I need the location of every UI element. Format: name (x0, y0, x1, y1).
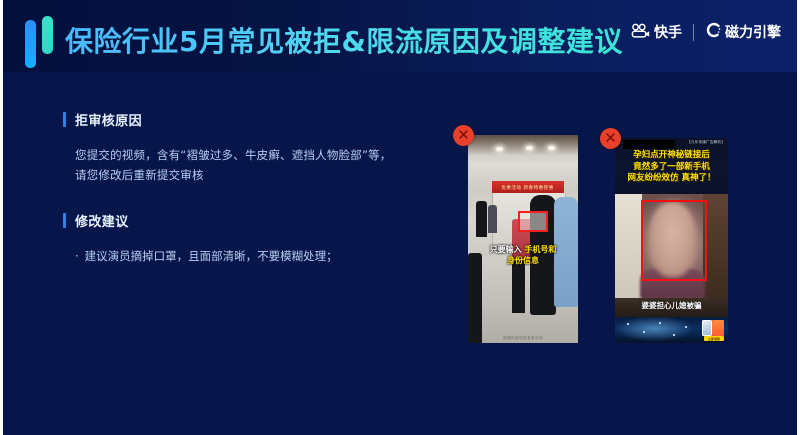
section-modification-advice: 修改建议 · 建议演员摘掉口罩，且面部清晰，不要模糊处理； (63, 211, 403, 266)
video-footer-note: 视频内容仅供参考示例 (468, 336, 578, 341)
section-heading-reject-reason: 拒审核原因 (63, 110, 403, 129)
sparkle-icon (673, 334, 675, 336)
brand-logos: 快手 磁力引擎 (631, 22, 781, 42)
list-item: · 建议演员摘掉口罩，且面部清晰，不要模糊处理； (63, 246, 403, 266)
headline-line-1: 孕妇点开神秘链接后 (615, 150, 728, 162)
sparkle-icon (627, 323, 629, 325)
bullet-text: 建议演员摘掉口罩，且面部清晰，不要模糊处理； (85, 246, 403, 266)
bullet-marker: · (75, 246, 79, 266)
store-banner: 优惠活动 新春特惠钜惠 (492, 181, 564, 193)
video-thumbnail-mall[interactable]: 优惠活动 新春特惠钜惠 只要 (468, 135, 578, 343)
red-highlight-box (641, 200, 707, 281)
section-title-text: 修改建议 (75, 215, 129, 230)
sparkle-icon (685, 326, 687, 328)
caption-highlight: 身份信息 (507, 256, 539, 265)
reject-badge-icon: ✕ (453, 125, 474, 146)
slide-header: 保险行业5月常见被拒&限流原因及调整建议 快手 (3, 0, 800, 72)
brand-label-kuaishou: 快手 (654, 22, 682, 42)
headline-line-2: 竟然多了一部新手机 (615, 162, 728, 174)
store-banner-text: 优惠活动 新春特惠钜惠 (502, 184, 555, 190)
corner-tag: 【凡乐传媒广告解析】 (687, 140, 725, 145)
red-highlight-box (518, 211, 548, 232)
ceiling-light (548, 146, 555, 150)
caption-line-2: 身份信息 (468, 256, 578, 267)
brand-kuaishou: 快手 (631, 22, 682, 42)
video-caption-mall: 只要输入 手机号和 身份信息 (468, 245, 578, 267)
ceiling-light (496, 147, 503, 151)
slide-root: 保险行业5月常见被拒&限流原因及调整建议 快手 (0, 0, 800, 435)
camera-icon (631, 23, 650, 42)
news-subtitle: 婆婆担心儿媳被骗 (615, 300, 728, 311)
brand-label-magnetic-engine: 磁力引擎 (725, 22, 781, 42)
sparkle-icon (659, 322, 661, 324)
ad-cta-button[interactable]: 立即领取 (704, 336, 724, 341)
header-accent-bars (25, 16, 57, 68)
section-title-text: 拒审核原因 (75, 114, 142, 129)
section-heading-modification-advice: 修改建议 (63, 211, 403, 230)
news-headline: 孕妇点开神秘链接后 竟然多了一部新手机 网友纷纷效仿 真神了！ (615, 150, 728, 185)
ceiling-light (526, 146, 533, 150)
examples-gallery: ✕ 优惠活动 新春特惠钜惠 (448, 125, 768, 355)
video-thumbnail-news[interactable]: 【凡乐传媒广告解析】 孕妇点开神秘链接后 竟然多了一部新手机 网友纷纷效仿 真神… (615, 138, 728, 343)
redacted-bar (623, 140, 675, 149)
brand-divider (693, 24, 694, 41)
section-reject-reason: 拒审核原因 您提交的视频，含有“褶皱过多、牛皮癣、遮挡人物脸部”等，请您修改后重… (63, 110, 403, 185)
section-body-reject-reason: 您提交的视频，含有“褶皱过多、牛皮癣、遮挡人物脸部”等，请您修改后重新提交审核 (63, 145, 403, 185)
mall-scene: 优惠活动 新春特惠钜惠 只要 (468, 135, 578, 343)
person-figure (488, 205, 497, 233)
magnet-circle-icon (705, 22, 721, 42)
ad-product-card (712, 320, 724, 336)
ad-banner[interactable]: 立即领取 (615, 317, 728, 343)
person-figure (476, 201, 487, 237)
reject-badge-icon: ✕ (600, 128, 621, 149)
page-title: 保险行业5月常见被拒&限流原因及调整建议 (65, 20, 623, 60)
caption-plain: 只要输入 (490, 245, 525, 254)
brand-magnetic-engine: 磁力引擎 (705, 22, 781, 42)
phone-icon (702, 320, 712, 336)
ceiling (468, 135, 578, 155)
sparkle-icon (643, 331, 645, 333)
accent-bar-blue (25, 20, 36, 68)
caption-line-1: 只要输入 手机号和 (468, 245, 578, 256)
news-photo (615, 194, 728, 298)
person-legs (512, 261, 525, 313)
caption-highlight: 手机号和 (524, 245, 556, 254)
background-door (615, 194, 642, 298)
news-scene: 【凡乐传媒广告解析】 孕妇点开神秘链接后 竟然多了一部新手机 网友纷纷效仿 真神… (615, 138, 728, 343)
headline-line-3: 网友纷纷效仿 真神了！ (615, 173, 728, 185)
content-left-column: 拒审核原因 您提交的视频，含有“褶皱过多、牛皮癣、遮挡人物脸部”等，请您修改后重… (63, 110, 403, 292)
accent-bar-teal (42, 16, 53, 54)
